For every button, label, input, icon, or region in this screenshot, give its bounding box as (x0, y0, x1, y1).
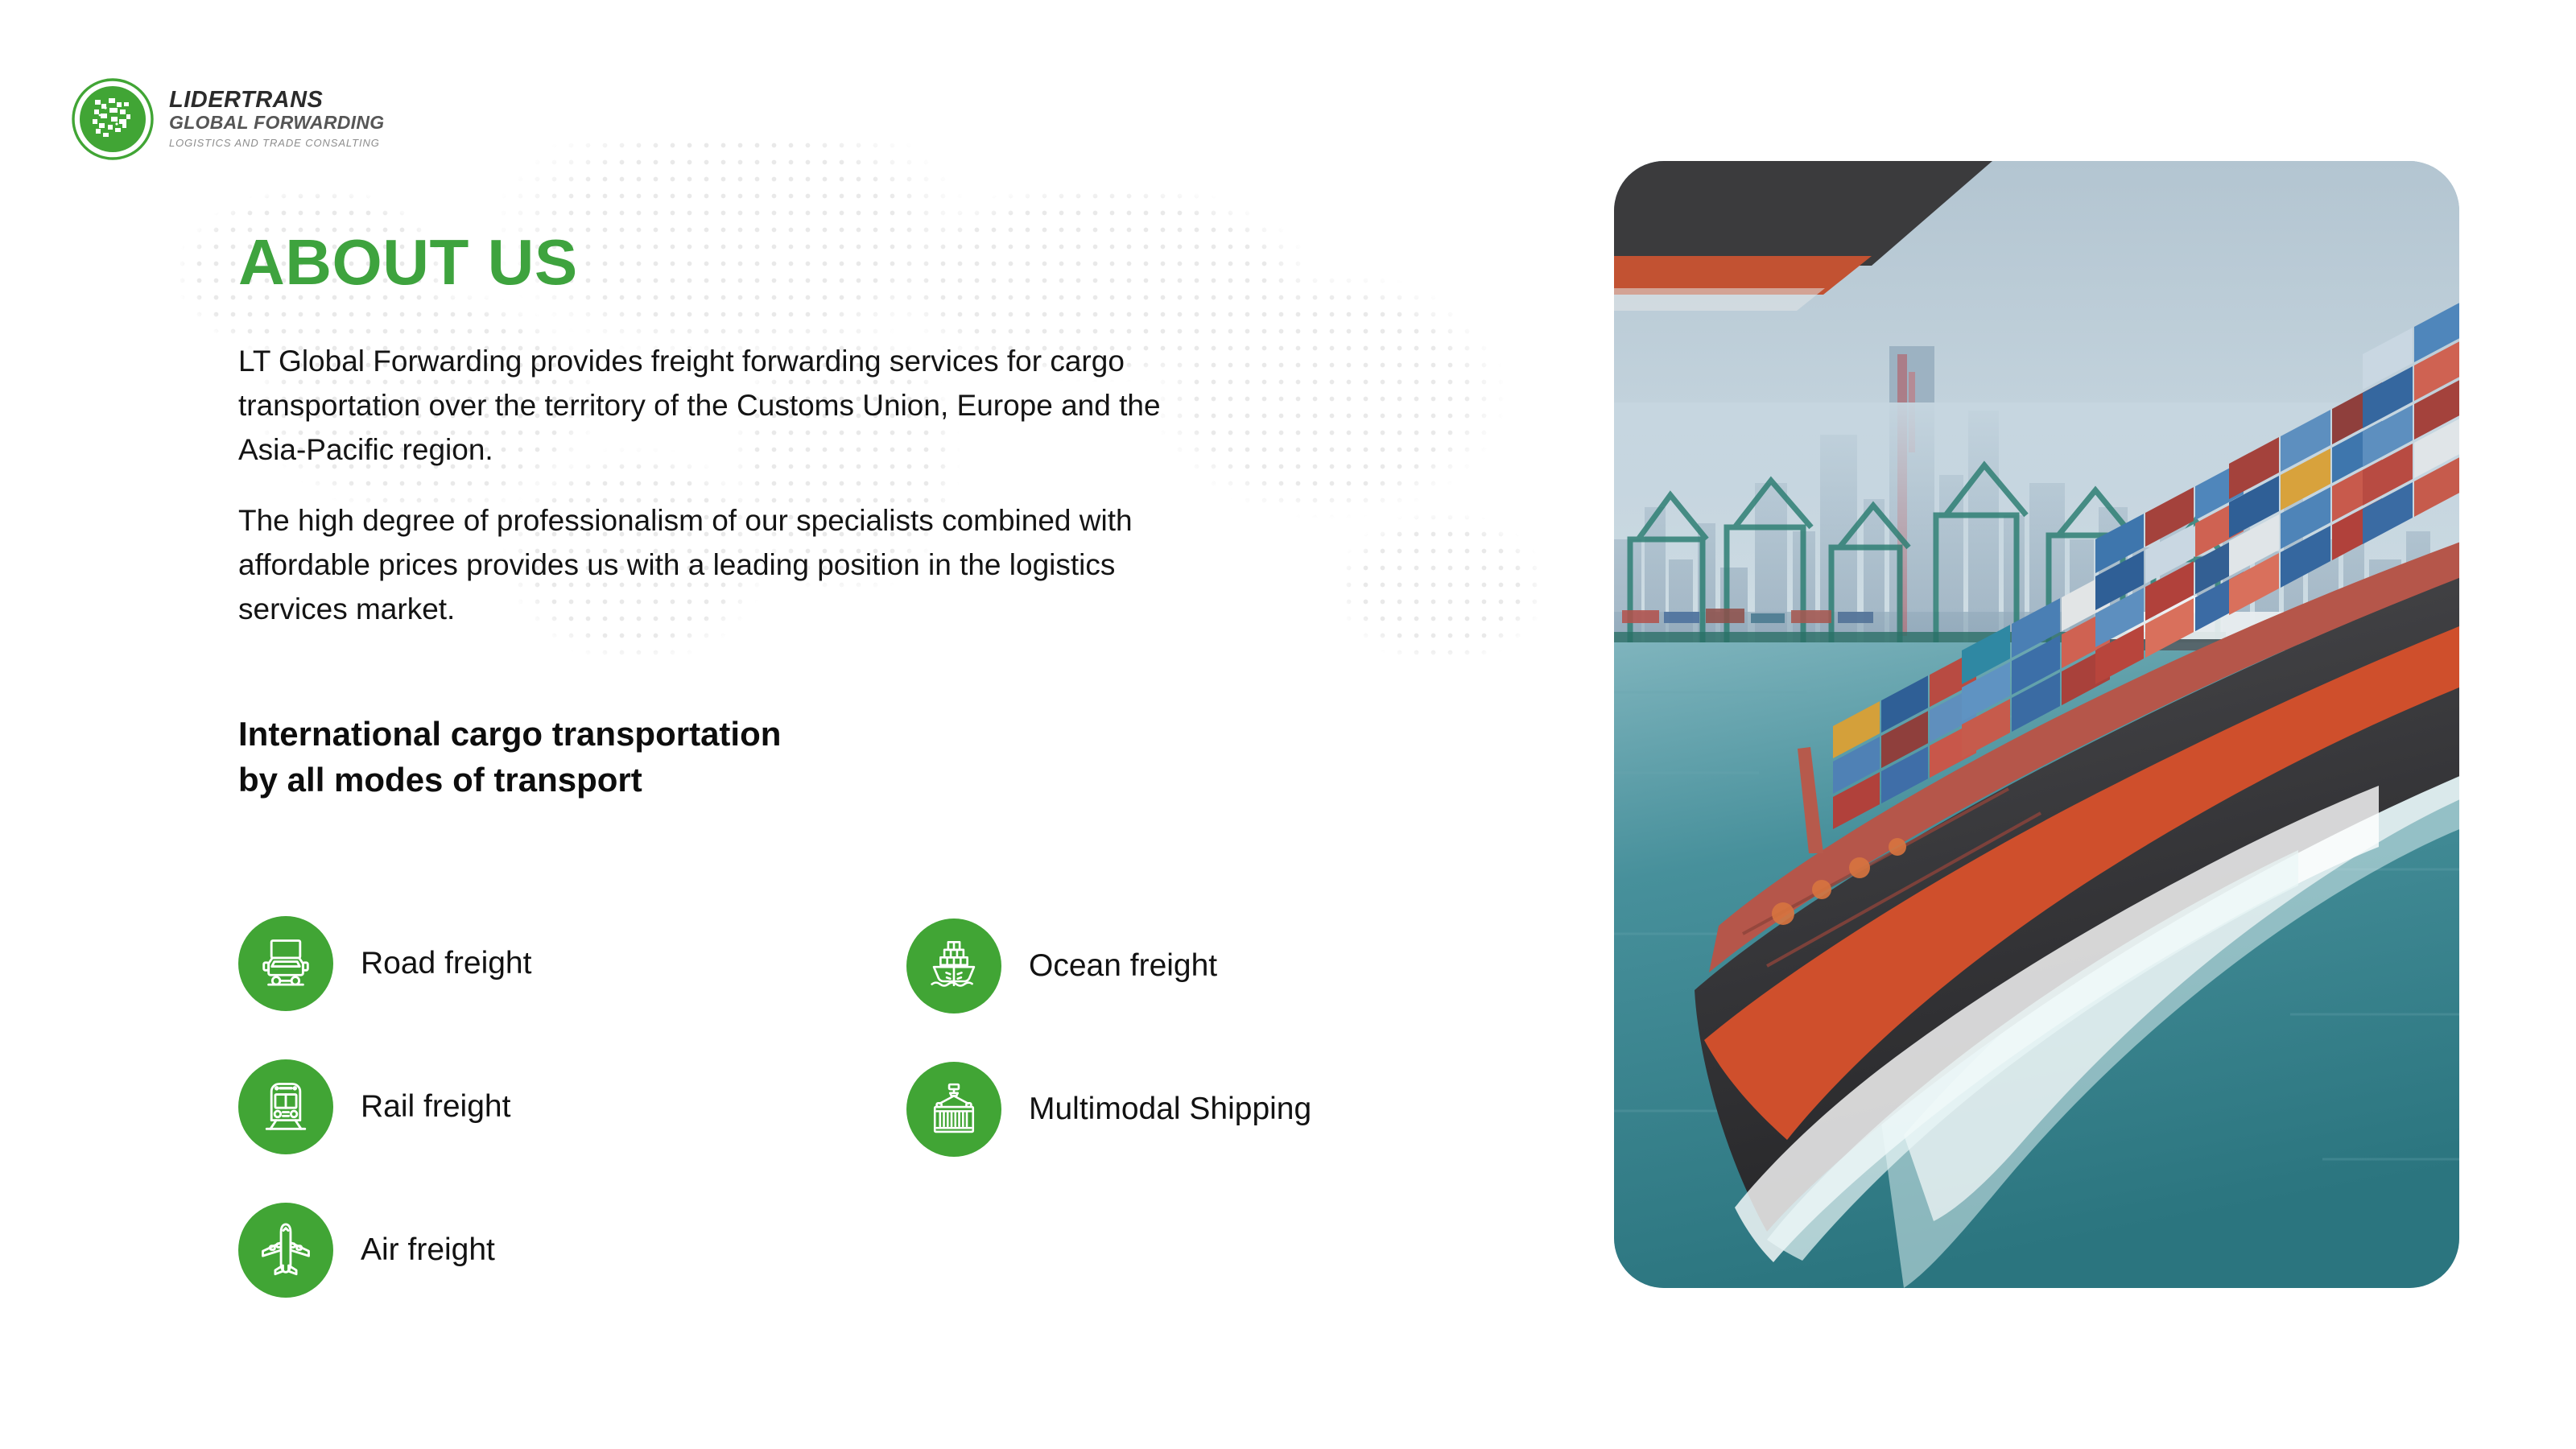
service-label: Ocean freight (1029, 948, 1217, 984)
service-label: Road freight (361, 946, 531, 981)
truck-icon (238, 916, 333, 1011)
service-item-rail-freight[interactable]: Rail freight (238, 1035, 665, 1179)
services-subheading: International cargo transportation by al… (238, 711, 1446, 803)
logo-line-1: LIDERTRANS (169, 88, 384, 112)
about-text-column: ABOUT US LT Global Forwarding provides f… (238, 230, 1446, 852)
service-item-multimodal-shipping[interactable]: Multimodal Shipping (906, 1040, 1333, 1179)
service-label: Multimodal Shipping (1029, 1092, 1311, 1127)
container-ship-photo (1614, 161, 2459, 1288)
service-item-ocean-freight[interactable]: Ocean freight (906, 897, 1333, 1035)
service-item-air-freight[interactable]: Air freight (238, 1179, 665, 1322)
logo-tagline: LOGISTICS AND TRADE CONSALTING (169, 135, 384, 151)
page-title: ABOUT US (238, 230, 1446, 295)
logo-line-2: GLOBAL FORWARDING (169, 112, 384, 133)
about-paragraph-2: The high degree of professionalism of ou… (238, 499, 1188, 631)
globe-logo-icon (71, 77, 155, 161)
service-label: Air freight (361, 1232, 495, 1268)
cargo-ship-icon (906, 919, 1001, 1013)
about-paragraph-1: LT Global Forwarding provides freight fo… (238, 340, 1188, 472)
company-logo[interactable]: LIDERTRANS GLOBAL FORWARDING LOGISTICS A… (71, 77, 384, 161)
logo-wordmark: LIDERTRANS GLOBAL FORWARDING LOGISTICS A… (169, 88, 384, 151)
airplane-icon (238, 1203, 333, 1298)
services-grid: Road freight Rail freight (238, 892, 1494, 1322)
service-label: Rail freight (361, 1089, 510, 1125)
slide-about-us: LIDERTRANS GLOBAL FORWARDING LOGISTICS A… (0, 0, 2576, 1449)
container-icon (906, 1062, 1001, 1157)
service-item-road-freight[interactable]: Road freight (238, 892, 665, 1035)
train-icon (238, 1059, 333, 1154)
